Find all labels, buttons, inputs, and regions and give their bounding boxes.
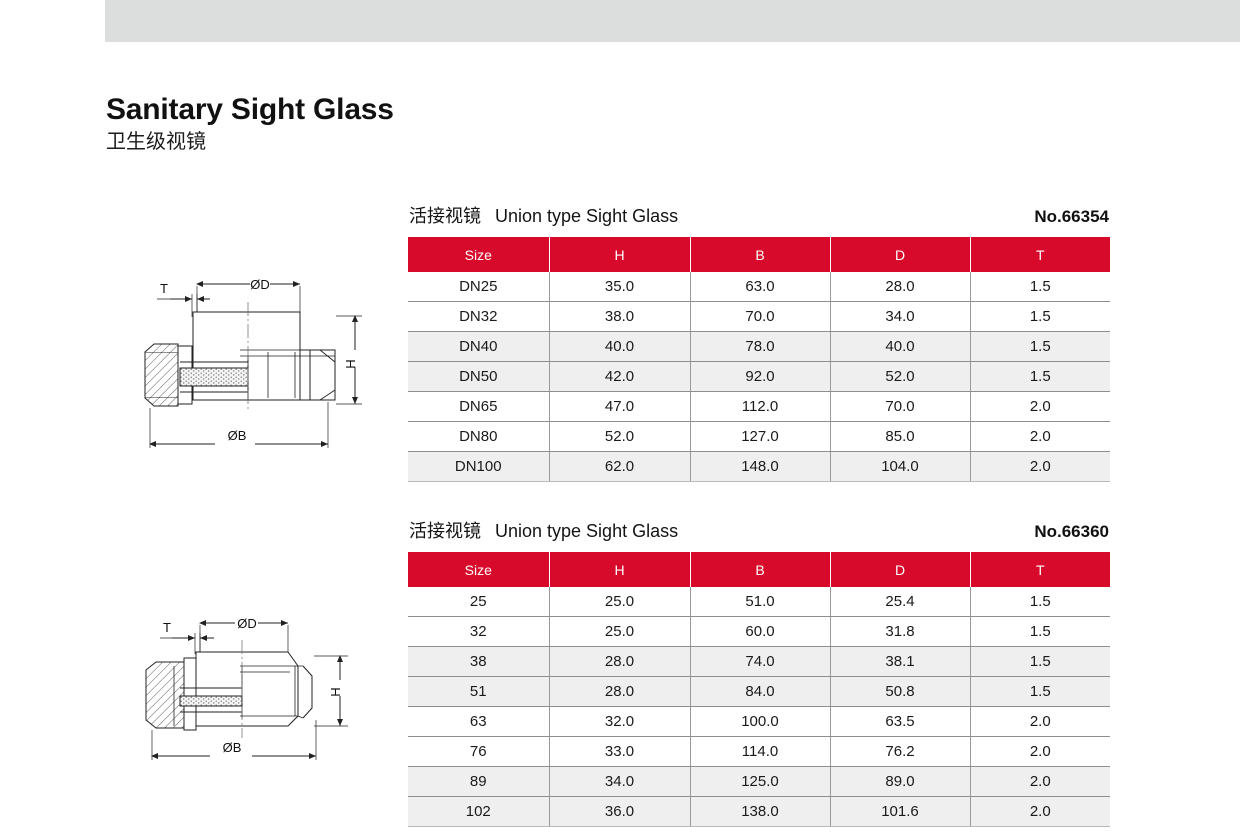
cell-b: 138.0 — [690, 797, 830, 827]
table-row: DN100 62.0 148.0 104.0 2.0 — [408, 452, 1110, 482]
cell-h: 25.0 — [549, 587, 690, 617]
cell-b: 78.0 — [690, 332, 830, 362]
table-caption-en: Union type Sight Glass — [495, 206, 678, 226]
cell-size: 63 — [408, 707, 549, 737]
table-row: 76 33.0 114.0 76.2 2.0 — [408, 737, 1110, 767]
cell-t: 2.0 — [970, 392, 1110, 422]
cell-t: 1.5 — [970, 362, 1110, 392]
cell-h: 32.0 — [549, 707, 690, 737]
cell-d: 101.6 — [830, 797, 970, 827]
cell-t: 2.0 — [970, 797, 1110, 827]
cell-d: 104.0 — [830, 452, 970, 482]
dimension-label-diameter-d: ØD — [250, 277, 270, 292]
cell-h: 47.0 — [549, 392, 690, 422]
table-header-row: Size H B D T — [408, 237, 1110, 272]
table-row: 89 34.0 125.0 89.0 2.0 — [408, 767, 1110, 797]
cell-d: 85.0 — [830, 422, 970, 452]
cell-size: 25 — [408, 587, 549, 617]
cell-size: 76 — [408, 737, 549, 767]
cell-size: DN50 — [408, 362, 549, 392]
page-title: Sanitary Sight Glass — [106, 94, 626, 126]
spec-table: Size H B D T DN25 35.0 63.0 28.0 1.5 DN3… — [408, 237, 1110, 482]
cell-t: 2.0 — [970, 452, 1110, 482]
cell-h: 38.0 — [549, 302, 690, 332]
dimension-label-thickness-t: T — [163, 620, 171, 635]
cell-h: 35.0 — [549, 272, 690, 302]
dimension-label-height-h: H — [328, 687, 343, 696]
cell-d: 28.0 — [830, 272, 970, 302]
cell-b: 114.0 — [690, 737, 830, 767]
cell-t: 1.5 — [970, 647, 1110, 677]
spec-table-block-66360: 活接视镜Union type Sight Glass No.66360 Size… — [408, 517, 1110, 827]
cell-size: DN100 — [408, 452, 549, 482]
cell-size: 89 — [408, 767, 549, 797]
cell-size: DN65 — [408, 392, 549, 422]
dimension-label-thickness-t: T — [160, 281, 168, 296]
cell-t: 2.0 — [970, 422, 1110, 452]
spec-table: Size H B D T 25 25.0 51.0 25.4 1.5 32 25… — [408, 552, 1110, 827]
cell-d: 50.8 — [830, 677, 970, 707]
table-caption: 活接视镜Union type Sight Glass No.66354 — [408, 202, 1110, 237]
cell-h: 25.0 — [549, 617, 690, 647]
cell-b: 125.0 — [690, 767, 830, 797]
technical-drawing-66354: ØD T H ØB — [140, 272, 380, 467]
spec-table-block-66354: 活接视镜Union type Sight Glass No.66354 Size… — [408, 202, 1110, 482]
cell-d: 76.2 — [830, 737, 970, 767]
cell-h: 42.0 — [549, 362, 690, 392]
cell-b: 84.0 — [690, 677, 830, 707]
cell-b: 127.0 — [690, 422, 830, 452]
table-row: 51 28.0 84.0 50.8 1.5 — [408, 677, 1110, 707]
table-body: DN25 35.0 63.0 28.0 1.5 DN32 38.0 70.0 3… — [408, 272, 1110, 482]
table-caption-text: 活接视镜Union type Sight Glass — [409, 202, 678, 228]
column-header-t: T — [970, 237, 1110, 272]
table-part-number: No.66354 — [1034, 207, 1109, 227]
cell-size: DN32 — [408, 302, 549, 332]
column-header-t: T — [970, 552, 1110, 587]
cell-size: DN25 — [408, 272, 549, 302]
table-caption: 活接视镜Union type Sight Glass No.66360 — [408, 517, 1110, 552]
cell-h: 52.0 — [549, 422, 690, 452]
table-row: DN80 52.0 127.0 85.0 2.0 — [408, 422, 1110, 452]
cell-h: 28.0 — [549, 677, 690, 707]
cell-size: 51 — [408, 677, 549, 707]
dimension-label-diameter-d: ØD — [237, 616, 257, 631]
cell-t: 1.5 — [970, 332, 1110, 362]
cell-h: 36.0 — [549, 797, 690, 827]
table-row: 38 28.0 74.0 38.1 1.5 — [408, 647, 1110, 677]
column-header-b: B — [690, 552, 830, 587]
cell-t: 1.5 — [970, 272, 1110, 302]
cell-b: 60.0 — [690, 617, 830, 647]
page-subtitle: 卫生级视镜 — [106, 129, 626, 156]
table-caption-cn: 活接视镜 — [409, 206, 481, 226]
cell-t: 2.0 — [970, 737, 1110, 767]
cell-d: 52.0 — [830, 362, 970, 392]
cell-t: 1.5 — [970, 677, 1110, 707]
technical-drawing-66360: ØD T H ØB — [140, 608, 380, 773]
table-caption-cn: 活接视镜 — [409, 521, 481, 541]
cell-size: 102 — [408, 797, 549, 827]
table-row: DN50 42.0 92.0 52.0 1.5 — [408, 362, 1110, 392]
table-caption-text: 活接视镜Union type Sight Glass — [409, 517, 678, 543]
dimension-label-diameter-b: ØB — [228, 428, 247, 443]
cell-size: DN40 — [408, 332, 549, 362]
cell-t: 2.0 — [970, 767, 1110, 797]
cell-d: 63.5 — [830, 707, 970, 737]
cell-b: 92.0 — [690, 362, 830, 392]
cell-h: 33.0 — [549, 737, 690, 767]
cell-d: 25.4 — [830, 587, 970, 617]
cell-t: 2.0 — [970, 707, 1110, 737]
table-row: 32 25.0 60.0 31.8 1.5 — [408, 617, 1110, 647]
cell-h: 40.0 — [549, 332, 690, 362]
cell-size: DN80 — [408, 422, 549, 452]
page-heading: Sanitary Sight Glass 卫生级视镜 — [106, 94, 626, 156]
cell-b: 100.0 — [690, 707, 830, 737]
top-banner — [105, 0, 1240, 42]
table-header-row: Size H B D T — [408, 552, 1110, 587]
cell-h: 62.0 — [549, 452, 690, 482]
cell-b: 74.0 — [690, 647, 830, 677]
cell-b: 70.0 — [690, 302, 830, 332]
table-row: DN40 40.0 78.0 40.0 1.5 — [408, 332, 1110, 362]
cell-h: 28.0 — [549, 647, 690, 677]
cell-d: 89.0 — [830, 767, 970, 797]
dimension-label-height-h: H — [343, 359, 358, 368]
cell-size: 38 — [408, 647, 549, 677]
table-row: 63 32.0 100.0 63.5 2.0 — [408, 707, 1110, 737]
table-body: 25 25.0 51.0 25.4 1.5 32 25.0 60.0 31.8 … — [408, 587, 1110, 827]
cell-t: 1.5 — [970, 302, 1110, 332]
cell-d: 31.8 — [830, 617, 970, 647]
cell-b: 148.0 — [690, 452, 830, 482]
column-header-size: Size — [408, 237, 549, 272]
table-row: 25 25.0 51.0 25.4 1.5 — [408, 587, 1110, 617]
cell-size: 32 — [408, 617, 549, 647]
cell-t: 1.5 — [970, 617, 1110, 647]
cell-d: 40.0 — [830, 332, 970, 362]
table-row: DN65 47.0 112.0 70.0 2.0 — [408, 392, 1110, 422]
dimension-label-diameter-b: ØB — [223, 740, 242, 755]
column-header-d: D — [830, 552, 970, 587]
cell-b: 63.0 — [690, 272, 830, 302]
column-header-d: D — [830, 237, 970, 272]
table-part-number: No.66360 — [1034, 522, 1109, 542]
cell-t: 1.5 — [970, 587, 1110, 617]
column-header-size: Size — [408, 552, 549, 587]
column-header-h: H — [549, 552, 690, 587]
cell-d: 34.0 — [830, 302, 970, 332]
column-header-h: H — [549, 237, 690, 272]
cell-h: 34.0 — [549, 767, 690, 797]
cell-b: 51.0 — [690, 587, 830, 617]
cell-b: 112.0 — [690, 392, 830, 422]
cell-d: 70.0 — [830, 392, 970, 422]
table-caption-en: Union type Sight Glass — [495, 521, 678, 541]
cell-d: 38.1 — [830, 647, 970, 677]
table-row: 102 36.0 138.0 101.6 2.0 — [408, 797, 1110, 827]
table-row: DN32 38.0 70.0 34.0 1.5 — [408, 302, 1110, 332]
column-header-b: B — [690, 237, 830, 272]
table-row: DN25 35.0 63.0 28.0 1.5 — [408, 272, 1110, 302]
